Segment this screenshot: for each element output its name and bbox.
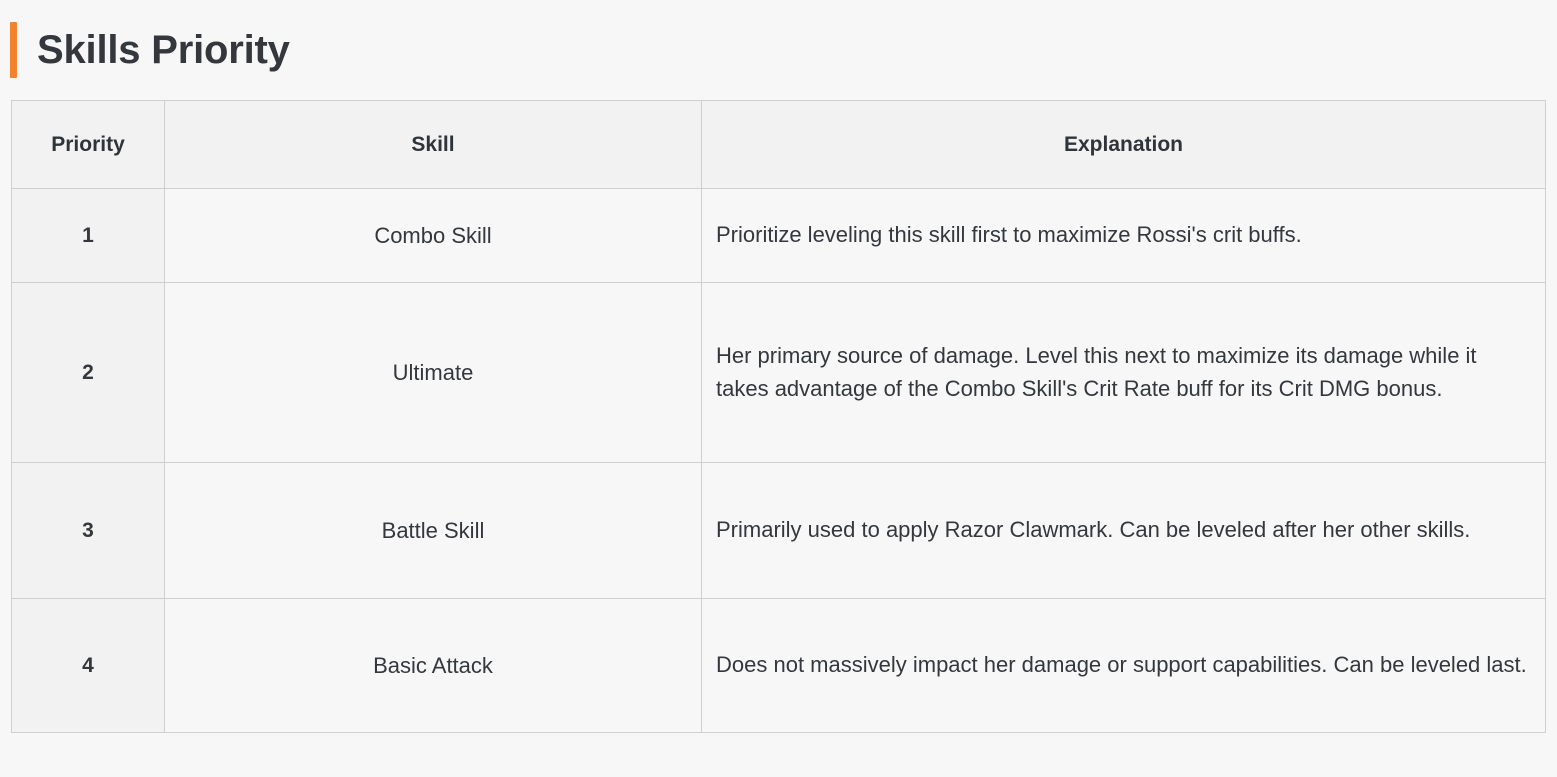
- cell-explanation: Does not massively impact her damage or …: [702, 599, 1546, 733]
- column-header-explanation: Explanation: [702, 101, 1546, 189]
- cell-skill: Battle Skill: [165, 463, 702, 599]
- table-header-row: Priority Skill Explanation: [12, 101, 1546, 189]
- cell-skill: Basic Attack: [165, 599, 702, 733]
- cell-explanation: Prioritize leveling this skill first to …: [702, 189, 1546, 283]
- heading-accent-bar: [10, 22, 17, 78]
- table-row: 2 Ultimate Her primary source of damage.…: [12, 283, 1546, 463]
- cell-skill: Combo Skill: [165, 189, 702, 283]
- column-header-priority: Priority: [12, 101, 165, 189]
- table-body: 1 Combo Skill Prioritize leveling this s…: [12, 189, 1546, 733]
- skills-priority-table-container: Priority Skill Explanation 1 Combo Skill…: [0, 100, 1557, 733]
- table-row: 4 Basic Attack Does not massively impact…: [12, 599, 1546, 733]
- table-row: 1 Combo Skill Prioritize leveling this s…: [12, 189, 1546, 283]
- column-header-skill: Skill: [165, 101, 702, 189]
- table-row: 3 Battle Skill Primarily used to apply R…: [12, 463, 1546, 599]
- page-heading: Skills Priority: [0, 0, 1557, 100]
- cell-priority: 1: [12, 189, 165, 283]
- cell-skill: Ultimate: [165, 283, 702, 463]
- cell-priority: 4: [12, 599, 165, 733]
- table-header: Priority Skill Explanation: [12, 101, 1546, 189]
- skills-priority-table: Priority Skill Explanation 1 Combo Skill…: [11, 100, 1546, 733]
- cell-priority: 2: [12, 283, 165, 463]
- page-title: Skills Priority: [37, 30, 290, 70]
- cell-priority: 3: [12, 463, 165, 599]
- cell-explanation: Her primary source of damage. Level this…: [702, 283, 1546, 463]
- cell-explanation: Primarily used to apply Razor Clawmark. …: [702, 463, 1546, 599]
